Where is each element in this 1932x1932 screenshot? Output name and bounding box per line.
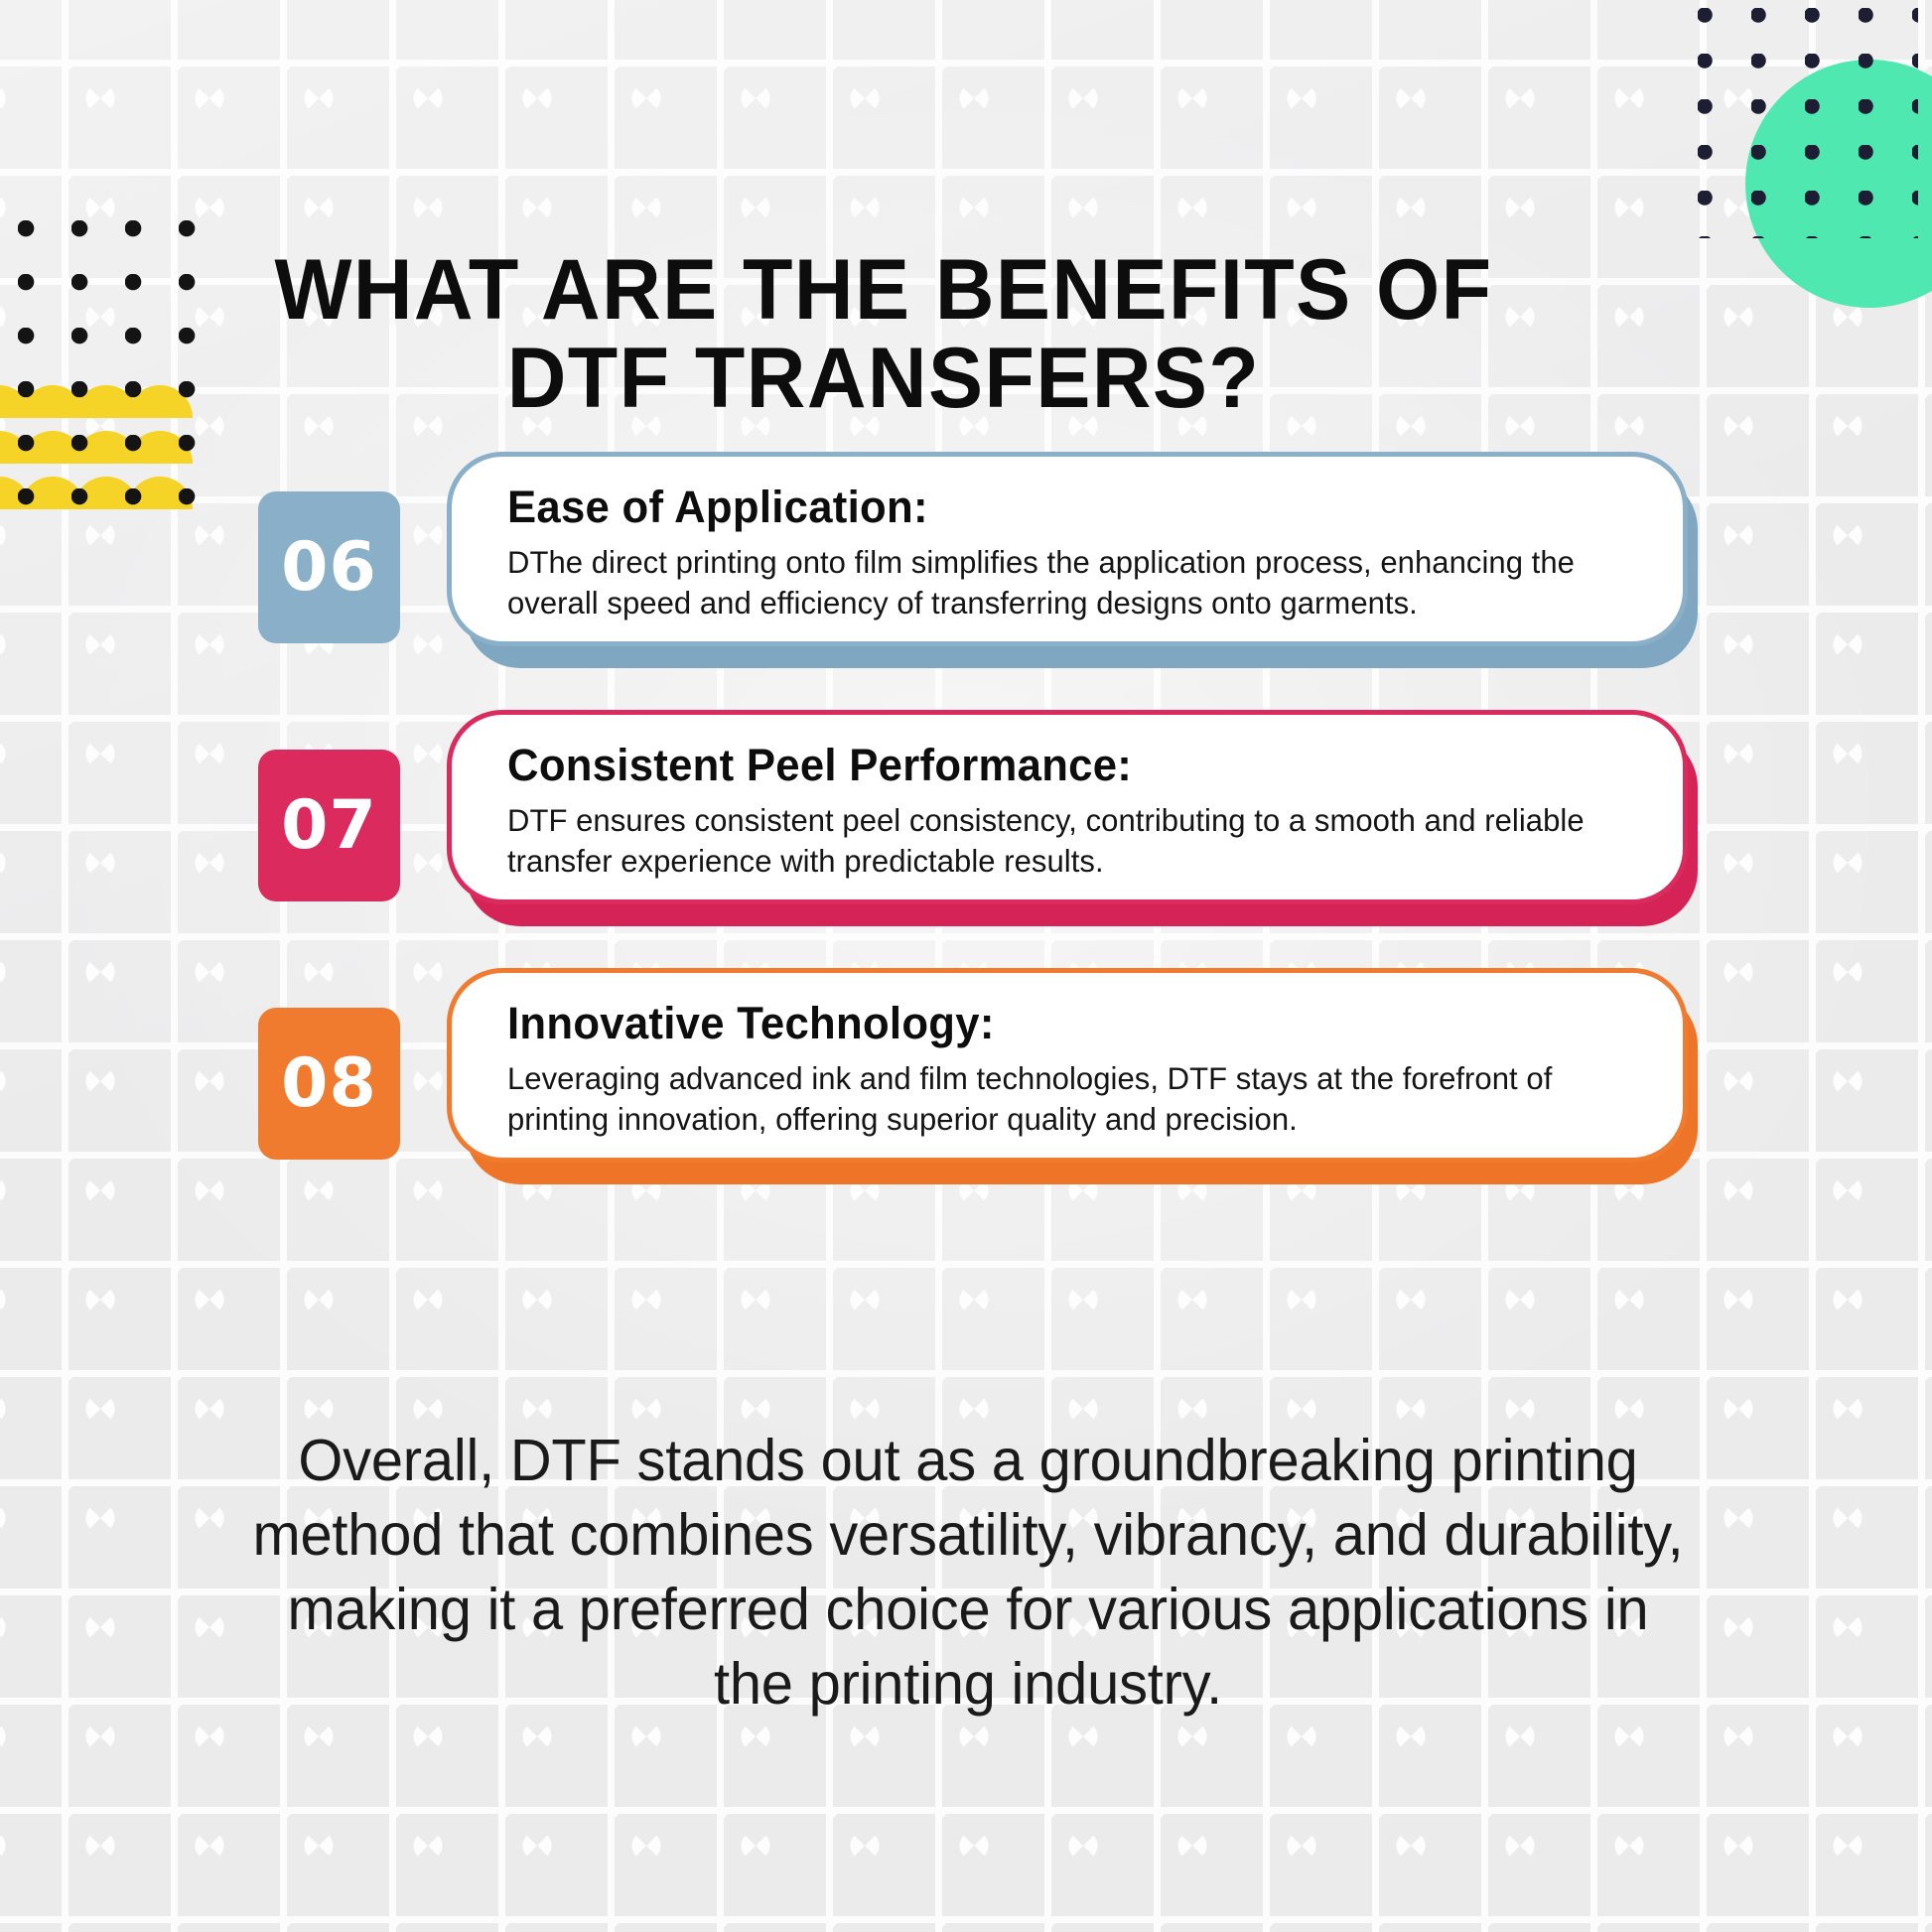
card-description: Leveraging advanced ink and film technol… xyxy=(507,1058,1622,1141)
card-shell: Innovative Technology: Leveraging advanc… xyxy=(447,968,1688,1163)
benefit-card[interactable]: Ease of Application: DThe direct printin… xyxy=(447,452,1688,646)
card-shell: Consistent Peel Performance: DTF ensures… xyxy=(447,710,1688,904)
card-number-badge: 08 xyxy=(258,1008,400,1160)
card-number-badge: 07 xyxy=(258,750,400,901)
benefit-card[interactable]: Innovative Technology: Leveraging advanc… xyxy=(447,968,1688,1163)
dot-grid-left-decoration xyxy=(18,220,197,508)
benefit-card-row: 08 Innovative Technology: Leveraging adv… xyxy=(248,968,1688,1181)
infographic-poster: WHAT ARE THE BENEFITS OF DTF TRANSFERS? … xyxy=(0,0,1932,1932)
dot-grid-top-right-decoration xyxy=(1698,8,1918,238)
card-heading: Consistent Peel Performance: xyxy=(507,741,1605,790)
conclusion-paragraph: Overall, DTF stands out as a groundbreak… xyxy=(248,1424,1688,1722)
card-heading: Innovative Technology: xyxy=(507,999,1605,1048)
benefit-card-row: 06 Ease of Application: DThe direct prin… xyxy=(248,452,1688,665)
card-shell: Ease of Application: DThe direct printin… xyxy=(447,452,1688,646)
card-number-badge: 06 xyxy=(258,491,400,643)
benefit-card[interactable]: Consistent Peel Performance: DTF ensures… xyxy=(447,710,1688,904)
benefit-card-row: 07 Consistent Peel Performance: DTF ensu… xyxy=(248,710,1688,923)
card-description: DThe direct printing onto film simplifie… xyxy=(507,542,1622,624)
card-description: DTF ensures consistent peel consistency,… xyxy=(507,800,1622,883)
card-heading: Ease of Application: xyxy=(507,483,1605,532)
page-title: WHAT ARE THE BENEFITS OF DTF TRANSFERS? xyxy=(216,246,1551,424)
benefit-card-list: 06 Ease of Application: DThe direct prin… xyxy=(0,452,1932,1246)
